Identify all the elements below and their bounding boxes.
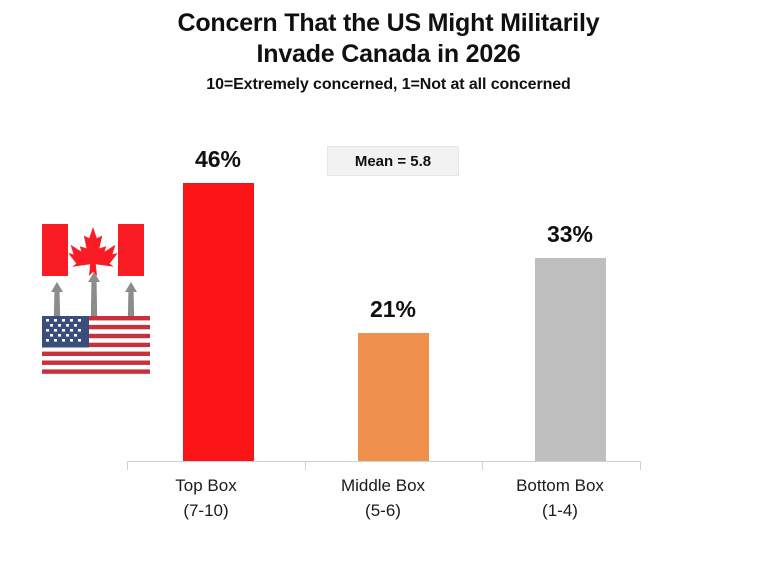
us-flag-icon	[42, 316, 150, 374]
category-label-range: (5-6)	[318, 499, 448, 524]
x-axis-line	[127, 461, 641, 462]
category-label-range: (1-4)	[495, 499, 625, 524]
bar-middle-box[interactable]	[358, 333, 429, 461]
canada-flag-icon	[42, 224, 144, 276]
bar-bottom-box[interactable]	[535, 258, 606, 461]
x-axis-tick	[640, 461, 641, 470]
category-label-middle-box: Middle Box (5-6)	[318, 474, 448, 523]
chart-container: Concern That the US Might Militarily Inv…	[0, 0, 777, 568]
category-label-name: Middle Box	[318, 474, 448, 499]
category-label-name: Bottom Box	[495, 474, 625, 499]
bar-top-box[interactable]	[183, 183, 254, 461]
bar-value-label: 33%	[520, 221, 620, 248]
x-axis-tick	[482, 461, 483, 470]
bar-value-label: 21%	[343, 296, 443, 323]
category-label-top-box: Top Box (7-10)	[141, 474, 271, 523]
category-label-name: Top Box	[141, 474, 271, 499]
canada-invasion-illustration	[36, 220, 156, 380]
x-axis-tick	[305, 461, 306, 470]
bar-value-label: 46%	[168, 146, 268, 173]
category-label-bottom-box: Bottom Box (1-4)	[495, 474, 625, 523]
x-axis-tick	[127, 461, 128, 470]
category-label-range: (7-10)	[141, 499, 271, 524]
